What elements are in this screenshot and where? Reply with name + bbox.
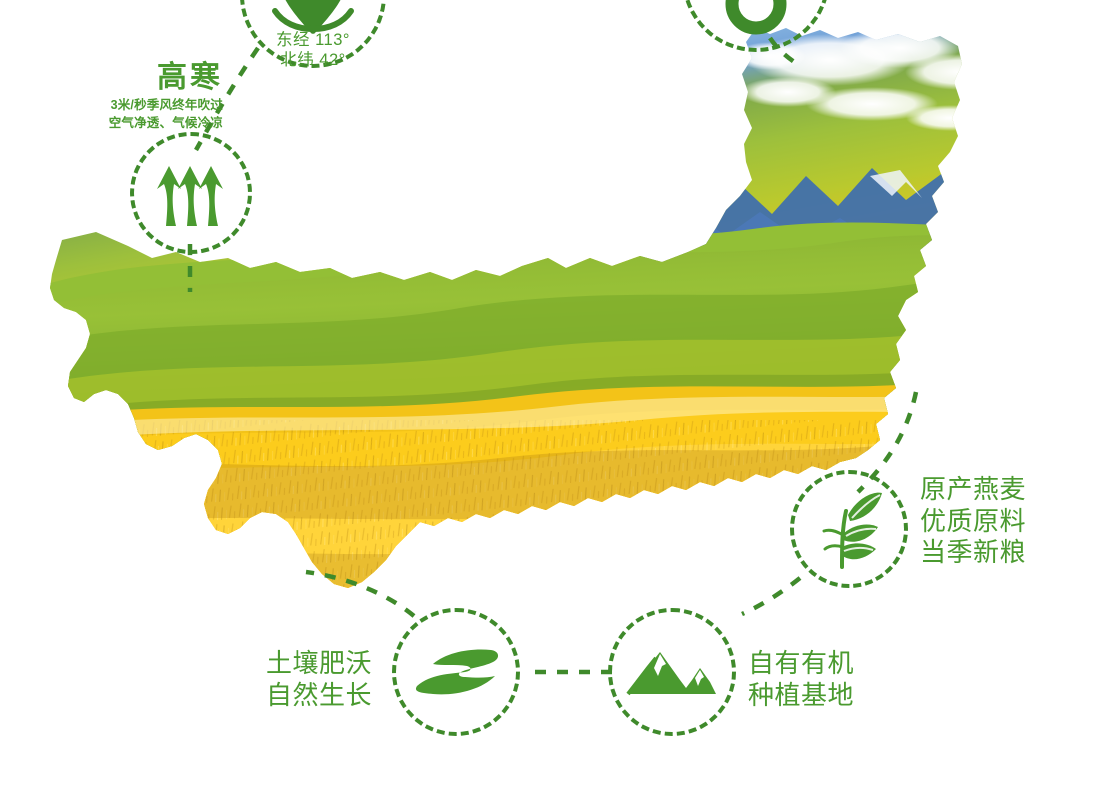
oat-text: 原产燕麦 优质原料 当季新粮 [920,474,1026,569]
mountain-icon [626,646,718,698]
base-bubble[interactable] [608,608,736,736]
soil-line-1: 土壤肥沃 [232,648,372,680]
ring-icon [723,0,789,37]
oat-line-3: 当季新粮 [920,537,1026,569]
oat-plant-icon [812,489,886,569]
cold-highland-sub-line-1: 3米/秒季风终年吹过 [48,96,223,114]
oat-line-2: 优质原料 [920,506,1026,538]
coordinate-text: 东经 113° 北纬 42° [240,30,386,70]
connector-oat-to-mountain [742,578,800,614]
cold-highland-title: 高寒 [48,60,223,97]
wind-arrows-icon [154,158,228,228]
cold-highland-sub-line-2: 空气净透、气候冷凉 [48,114,223,132]
cold-highland-subtitle: 3米/秒季风终年吹过 空气净透、气候冷凉 [48,96,223,132]
connector-soil-to-map [306,572,414,616]
oat-line-1: 原产燕麦 [920,474,1026,506]
wind-bubble[interactable] [130,132,252,254]
base-text: 自有有机 种植基地 [748,648,854,711]
coordinate-line-1: 东经 113° [240,30,386,50]
soil-text: 土壤肥沃 自然生长 [232,648,372,711]
soil-bubble[interactable] [392,608,520,736]
soil-line-2: 自然生长 [232,680,372,712]
oat-bubble[interactable] [790,470,908,588]
base-line-1: 自有有机 [748,648,854,680]
base-line-2: 种植基地 [748,680,854,712]
infographic-canvas: 东经 113° 北纬 42° 高寒 3米/秒季风终年吹过 空气净透、气候冷凉 [0,0,1100,796]
river-field-icon [411,644,501,700]
coordinate-line-2: 北纬 42° [240,50,386,70]
